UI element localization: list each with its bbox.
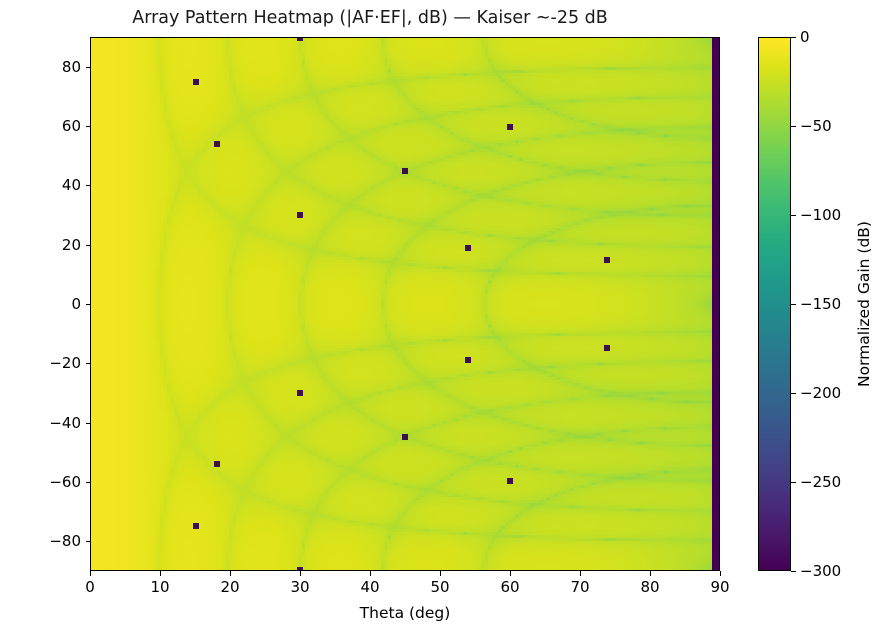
y-tick-mark <box>86 363 91 364</box>
y-tick-label: 20 <box>21 236 81 254</box>
y-tick-mark <box>86 67 91 68</box>
colorbar-tick-label: −300 <box>800 562 841 580</box>
chart-title: Array Pattern Heatmap (|AF·EF|, dB) — Ka… <box>0 6 740 30</box>
colorbar-tick-mark <box>791 126 796 127</box>
x-tick-label: 90 <box>690 578 750 596</box>
x-tick-label: 60 <box>480 578 540 596</box>
colorbar-tick-mark <box>791 37 796 38</box>
x-tick-label: 10 <box>130 578 190 596</box>
x-tick-label: 0 <box>60 578 120 596</box>
y-tick-label: 60 <box>21 117 81 135</box>
y-tick-mark <box>86 482 91 483</box>
colorbar-tick-label: 0 <box>800 28 810 46</box>
y-tick-label: −60 <box>21 473 81 491</box>
y-tick-mark <box>86 245 91 246</box>
x-tick-mark <box>300 571 301 576</box>
colorbar-tick-label: −250 <box>800 473 841 491</box>
colorbar-tick-label: −150 <box>800 295 841 313</box>
y-tick-label: 40 <box>21 176 81 194</box>
x-tick-mark <box>230 571 231 576</box>
colorbar-tick-mark <box>791 304 796 305</box>
colorbar-tick-mark <box>791 571 796 572</box>
y-tick-mark <box>86 126 91 127</box>
x-tick-mark <box>90 571 91 576</box>
x-axis-title: Theta (deg) <box>90 604 720 622</box>
colorbar-tick-mark <box>791 215 796 216</box>
y-tick-label: 80 <box>21 58 81 76</box>
y-tick-mark <box>86 185 91 186</box>
x-tick-mark <box>650 571 651 576</box>
colorbar-tick-label: −100 <box>800 206 841 224</box>
x-tick-mark <box>720 571 721 576</box>
x-tick-label: 20 <box>200 578 260 596</box>
x-tick-mark <box>440 571 441 576</box>
x-tick-label: 50 <box>410 578 470 596</box>
y-tick-label: −40 <box>21 414 81 432</box>
heatmap-image <box>91 38 719 570</box>
colorbar-title: Normalized Gain (dB) <box>855 221 873 387</box>
x-tick-mark <box>370 571 371 576</box>
x-tick-label: 70 <box>550 578 610 596</box>
colorbar <box>758 37 791 571</box>
x-tick-mark <box>510 571 511 576</box>
y-tick-mark <box>86 304 91 305</box>
x-tick-mark <box>580 571 581 576</box>
x-tick-label: 40 <box>340 578 400 596</box>
colorbar-tick-mark <box>791 393 796 394</box>
y-tick-label: −20 <box>21 354 81 372</box>
x-tick-label: 80 <box>620 578 680 596</box>
y-tick-mark <box>86 423 91 424</box>
heatmap-axes[interactable] <box>90 37 720 571</box>
y-tick-label: −80 <box>21 532 81 550</box>
y-tick-mark <box>86 541 91 542</box>
colorbar-tick-label: −200 <box>800 384 841 402</box>
x-tick-label: 30 <box>270 578 330 596</box>
colorbar-tick-mark <box>791 482 796 483</box>
figure-canvas: Array Pattern Heatmap (|AF·EF|, dB) — Ka… <box>0 0 885 637</box>
x-tick-mark <box>160 571 161 576</box>
y-tick-label: 0 <box>21 295 81 313</box>
colorbar-tick-label: −50 <box>800 117 832 135</box>
